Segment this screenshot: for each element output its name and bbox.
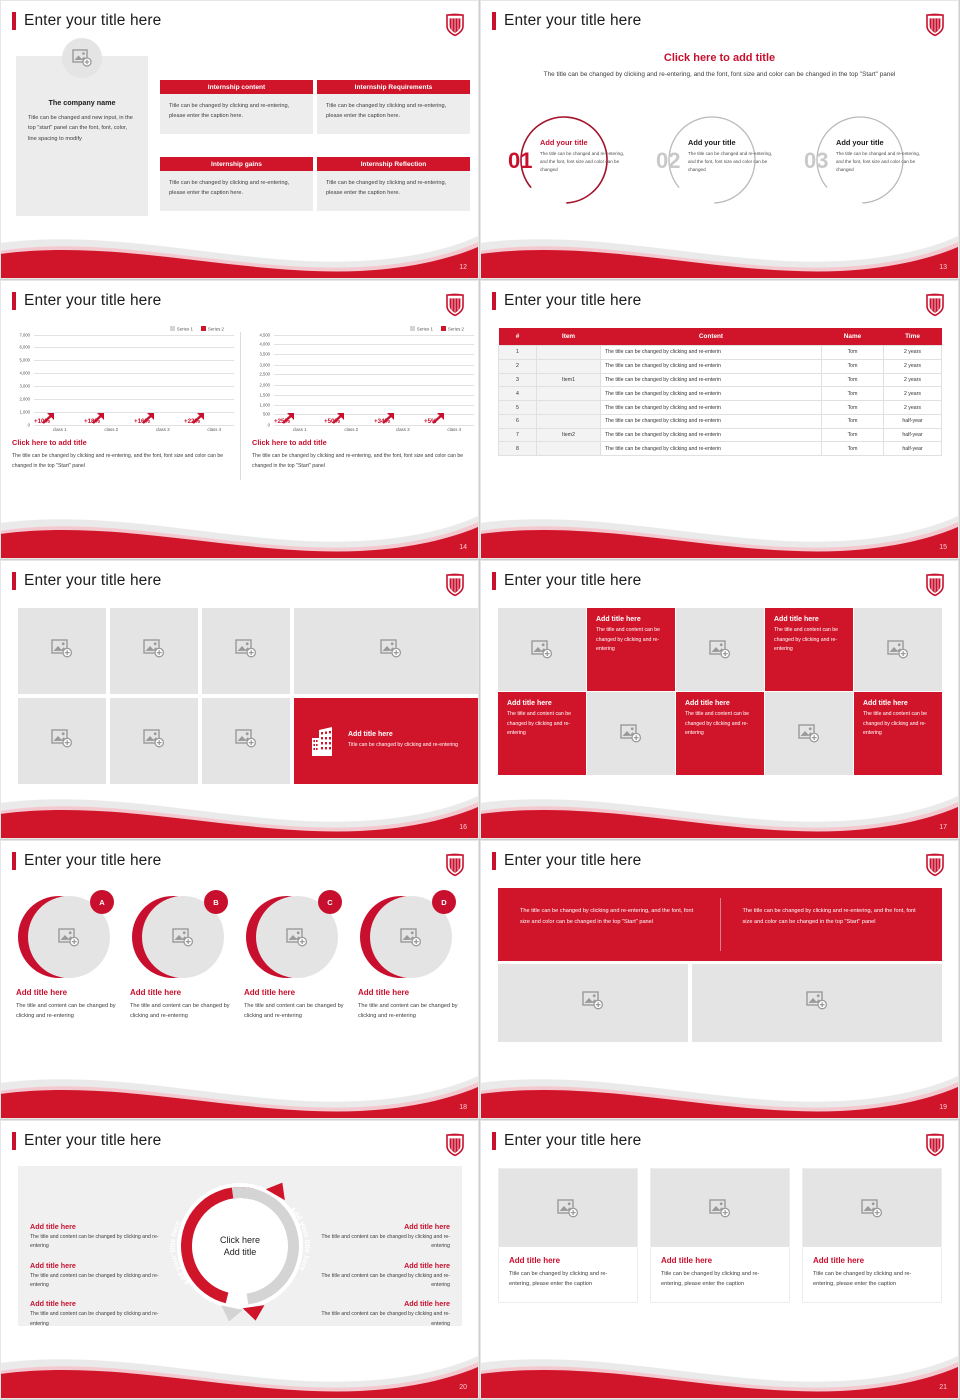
y-tick: 1,000 [260,402,270,407]
title-accent-bar [12,12,16,30]
y-tick: 5,000 [20,358,30,363]
y-axis: 01,0002,0003,0004,0005,0006,0007,000 [8,335,32,425]
table-row[interactable]: 8The title can be changed by clicking an… [499,442,942,456]
add-image-icon [51,639,73,658]
slide-21[interactable]: Enter your title here Add title hereTitl… [480,1120,960,1400]
caption-card[interactable]: Add title hereTitle can be changed by cl… [650,1168,790,1303]
slide-15[interactable]: Enter your title here #ItemContentNameTi… [480,280,960,560]
x-axis: class 1class 2class 3class 4 [34,427,240,432]
x-tick: class 3 [377,427,429,432]
x-tick: class 4 [429,427,481,432]
table-cell-content: The title can be changed by clicking and… [601,373,822,387]
title-accent-bar [492,12,496,30]
tile-title: Add title here [507,700,577,707]
slide-header: Enter your title here [12,852,161,870]
tile-title: Add title here [774,616,844,623]
legend-entry: Series 1 [170,326,193,332]
card-title: Internship gains [160,157,313,171]
table-row[interactable]: 5The title can be changed by clicking an… [499,401,942,415]
legend-entry: Series 1 [410,326,433,332]
table-row[interactable]: 1The title can be changed by clicking an… [499,346,942,360]
numbered-circles-row: 01 Add your title The title can be chang… [498,110,942,210]
shield-logo-icon [445,572,465,596]
add-image-icon [172,928,194,947]
chart-right[interactable]: Series 1Series 205001,0001,5002,0002,500… [246,326,480,486]
item-title: Add title here [130,988,232,997]
image-placeholder-left[interactable] [498,964,688,1042]
legend-entry: Series 2 [441,326,464,332]
footer-wave [0,221,480,279]
circle-item[interactable]: BAdd title hereThe title and content can… [130,890,232,1022]
circle-graphic: A [16,890,118,982]
y-tick: 0 [268,422,270,427]
add-image-icon [861,1199,883,1218]
chart-caption-title: Click here to add title [252,438,480,447]
y-tick: 4,000 [20,371,30,376]
card-title: Internship Reflection [317,157,470,171]
numbered-item-02[interactable]: 02 Add your title The title can be chang… [646,110,794,210]
chart-caption-body: The title can be changed by clicking and… [12,451,227,472]
table-cell-time: half-year [884,428,942,442]
shield-logo-icon [445,12,465,36]
legend-entry: Series 2 [201,326,224,332]
image-placeholder[interactable] [651,1169,789,1247]
add-image-icon [806,991,828,1010]
add-image-placeholder[interactable] [62,38,102,78]
footer-wave [480,221,960,279]
table-cell-content: The title can be changed by clicking and… [601,401,822,415]
growth-arrow-icon [432,411,446,425]
image-placeholder-2[interactable] [110,608,198,694]
center-line-2: Add title [220,1246,260,1258]
add-image-icon [143,729,165,748]
x-tick: class 2 [326,427,378,432]
table-cell-name: Tom [822,359,884,373]
circle-graphic: C [244,890,346,982]
table-cell-name: Tom [822,428,884,442]
page-title: Enter your title here [504,1132,641,1150]
circle-items-row: AAdd title hereThe title and content can… [16,890,460,1022]
table-cell-item [537,359,601,373]
add-image-icon [235,729,257,748]
item-number: 02 [656,148,680,174]
circle-badge: C [318,890,342,914]
item-number: 03 [804,148,828,174]
growth-arrow-icon [192,411,206,425]
building-icon [310,726,336,756]
plot-area: 05001,0001,5002,0002,5003,0003,5004,0004… [248,335,476,425]
item-title: Add your title [540,138,626,147]
slide-16[interactable]: Enter your title here Add title here [0,560,480,840]
company-body: Title can be changed and new input, in t… [28,113,136,144]
y-tick: 2,500 [260,372,270,377]
text-tile[interactable]: Add title hereThe title and content can … [676,692,764,775]
y-axis: 05001,0001,5002,0002,5003,0003,5004,0004… [248,335,272,425]
table-cell-item [537,346,601,360]
company-card[interactable]: The company name Title can be changed an… [16,56,148,216]
chart-legend: Series 1Series 2 [6,326,242,332]
item-body: The title can be changed and re-entering… [688,150,774,174]
chart-caption-title: Click here to add title [12,438,242,447]
add-image-icon [380,639,402,658]
table-cell-time: 2 years [884,346,942,360]
slide-deck: Enter your title here The company name T… [0,0,960,1400]
add-image-icon [557,1199,579,1218]
slide-header: Enter your title here [492,292,641,310]
table-cell-content: The title can be changed by clicking and… [601,428,822,442]
item-body: The title and content can be changed by … [16,1001,118,1022]
footer-wave [480,781,960,839]
table-cell-content: The title can be changed by clicking and… [601,359,822,373]
cycle-center-label[interactable]: Click here Add title [220,1234,260,1258]
tile-title: Add title here [685,700,755,707]
chart-legend: Series 1Series 2 [246,326,480,332]
title-accent-bar [12,1132,16,1150]
footer-wave [480,501,960,559]
image-placeholder[interactable] [499,1169,637,1247]
shield-logo-icon [925,12,945,36]
y-tick: 3,000 [260,362,270,367]
y-tick: 1,000 [20,409,30,414]
tile-body: The title and content can be changed by … [685,710,755,739]
slide-13[interactable]: Enter your title here Click here to add … [480,0,960,280]
title-accent-bar [492,572,496,590]
numbered-item-03[interactable]: 03 Add your title The title can be chang… [794,110,942,210]
title-accent-bar [12,852,16,870]
bar-groups: +10%+18%+16%+22% [34,335,234,425]
y-tick: 4,000 [260,342,270,347]
add-image-icon [887,640,909,659]
circle-badge: A [90,890,114,914]
page-title: Enter your title here [24,1132,161,1150]
item-body: The title and content can be changed by … [244,1001,346,1022]
growth-arrow-icon [142,411,156,425]
table-row[interactable]: 2The title can be changed by clicking an… [499,359,942,373]
card-title: Add title here [509,1256,627,1265]
table-cell-item: Item2 [537,428,601,442]
table-cell-name: Tom [822,373,884,387]
title-accent-bar [492,852,496,870]
slide-14[interactable]: Enter your title here Series 1Series 201… [0,280,480,560]
add-image-icon [709,1199,731,1218]
tile-body: The title and content can be changed by … [774,626,844,655]
table-cell-name: Tom [822,414,884,428]
title-accent-bar [12,292,16,310]
shield-logo-icon [925,292,945,316]
feature-title: Add title here [348,731,478,738]
table-cell-index: 7 [499,428,537,442]
shield-logo-icon [925,1132,945,1156]
add-image-icon [235,639,257,658]
circle-item[interactable]: AAdd title hereThe title and content can… [16,890,118,1022]
card-body: Title can be changed by clicking and re-… [509,1269,627,1290]
banner-text-left: The title can be changed by clicking and… [498,888,720,961]
circle-item[interactable]: DAdd title hereThe title and content can… [358,890,460,1022]
image-placeholder-3[interactable] [202,608,290,694]
page-title: Enter your title here [504,852,641,870]
y-tick: 1,500 [260,392,270,397]
table-cell-content: The title can be changed by clicking and… [601,414,822,428]
slide-header: Enter your title here [492,572,641,590]
red-text-banner[interactable]: The title can be changed by clicking and… [498,888,942,961]
card-body: Title can be changed by clicking and re-… [160,171,313,211]
table-cell-name: Tom [822,387,884,401]
item-title: Add title here [358,988,460,997]
growth-arrow-icon [382,411,396,425]
image-placeholder[interactable] [676,608,764,691]
page-title: Enter your title here [504,12,641,30]
item-title: Add title here [16,988,118,997]
table-cell-index: 4 [499,387,537,401]
image-placeholder-7[interactable] [202,698,290,784]
tile-title: Add title here [863,700,933,707]
x-tick: class 1 [274,427,326,432]
card-body: Title can be changed by clicking and re-… [317,94,470,134]
table-cell-time: 2 years [884,401,942,415]
table-cell-index: 1 [499,346,537,360]
caption-cards-row: Add title hereTitle can be changed by cl… [498,1168,942,1303]
info-card-internship-gains[interactable]: Internship gains Title can be changed by… [160,157,313,211]
shield-logo-icon [445,292,465,316]
data-table[interactable]: #ItemContentNameTime1The title can be ch… [498,328,942,456]
shield-logo-icon [925,852,945,876]
table-cell-time: half-year [884,414,942,428]
caption-card[interactable]: Add title hereTitle can be changed by cl… [498,1168,638,1303]
cycle-diagram[interactable]: Add title hereThe title and content can … [18,1166,462,1326]
circle-graphic: B [130,890,232,982]
item-title: Add your title [836,138,922,147]
y-tick: 3,500 [260,352,270,357]
table-header-cell[interactable]: Content [601,328,822,346]
shield-logo-icon [925,572,945,596]
image-placeholder[interactable] [803,1169,941,1247]
y-tick: 2,000 [20,396,30,401]
image-placeholder[interactable] [498,608,586,691]
x-tick: class 4 [189,427,241,432]
x-axis: class 1class 2class 3class 4 [274,427,480,432]
y-tick: 500 [263,412,270,417]
table-header-cell[interactable]: Name [822,328,884,346]
page-number: 15 [939,544,947,551]
slide-17[interactable]: Enter your title here Add title hereThe … [480,560,960,840]
footer-wave [480,1341,960,1399]
growth-arrow-icon [92,411,106,425]
table-header-cell[interactable]: Time [884,328,942,346]
page-number: 19 [939,1104,947,1111]
tile-body: The title and content can be changed by … [507,710,577,739]
circle-badge: D [432,890,456,914]
item-title: Add title here [244,988,346,997]
bar-groups: +25%+50%+34%+5% [274,335,474,425]
page-number: 12 [459,264,467,271]
slide-header: Enter your title here [12,292,161,310]
image-grid: Add title here Title can be changed by c… [18,608,462,784]
page-number: 13 [939,264,947,271]
item-body: The title and content can be changed by … [358,1001,460,1022]
table-cell-name: Tom [822,346,884,360]
page-title: Enter your title here [24,292,161,310]
tile-body: The title and content can be changed by … [863,710,933,739]
page-number: 17 [939,824,947,831]
table-row[interactable]: 4The title can be changed by clicking an… [499,387,942,401]
slide-header: Enter your title here [12,572,161,590]
item-title: Add your title [688,138,774,147]
y-tick: 0 [28,422,30,427]
feature-body: Title can be changed by clicking and re-… [348,741,478,751]
shield-logo-icon [445,852,465,876]
y-tick: 4,500 [260,332,270,337]
chart-left[interactable]: Series 1Series 201,0002,0003,0004,0005,0… [6,326,242,486]
card-title: Add title here [661,1256,779,1265]
image-placeholder[interactable] [587,692,675,775]
info-card-internship-content[interactable]: Internship content Title can be changed … [160,80,313,134]
table-cell-content: The title can be changed by clicking and… [601,387,822,401]
add-image-icon [58,928,80,947]
x-tick: class 1 [34,427,86,432]
table-header-row: #ItemContentNameTime [499,328,942,346]
section-subtext: The title can be changed by clicking and… [480,70,959,81]
item-body: The title and content can be changed by … [130,1001,232,1022]
table-cell-item [537,387,601,401]
slide-header: Enter your title here [492,1132,641,1150]
footer-wave [0,1061,480,1119]
table-cell-name: Tom [822,442,884,456]
add-image-icon [400,928,422,947]
caption-card[interactable]: Add title hereTitle can be changed by cl… [802,1168,942,1303]
tile-body: The title and content can be changed by … [596,626,666,655]
add-image-icon [620,724,642,743]
page-title: Enter your title here [24,572,161,590]
x-tick: class 2 [86,427,138,432]
footer-wave [0,1341,480,1399]
table-cell-time: 2 years [884,387,942,401]
table-cell-content: The title can be changed by clicking and… [601,346,822,360]
page-title: Enter your title here [24,852,161,870]
add-image-icon [51,729,73,748]
circle-graphic: D [358,890,460,982]
card-body: Title can be changed by clicking and re-… [661,1269,779,1290]
table-cell-item: Item1 [537,373,601,387]
circle-item[interactable]: CAdd title hereThe title and content can… [244,890,346,1022]
table-cell-item [537,442,601,456]
plot-area: 01,0002,0003,0004,0005,0006,0007,000+10%… [8,335,236,425]
add-image-icon [143,639,165,658]
chart-caption-body: The title can be changed by clicking and… [252,451,467,472]
add-image-icon [709,640,731,659]
add-image-icon [798,724,820,743]
slide-header: Enter your title here [12,12,161,30]
text-tile[interactable]: Add title hereThe title and content can … [765,608,853,691]
title-accent-bar [492,292,496,310]
image-placeholder-1[interactable] [18,608,106,694]
image-placeholder-right[interactable] [692,964,942,1042]
image-placeholder[interactable] [765,692,853,775]
slide-12[interactable]: Enter your title here The company name T… [0,0,480,280]
feature-tile[interactable]: Add title here Title can be changed by c… [294,698,480,784]
add-image-icon [286,928,308,947]
table-cell-index: 8 [499,442,537,456]
x-tick: class 3 [137,427,189,432]
page-number: 20 [459,1384,467,1391]
y-tick: 6,000 [20,345,30,350]
section-heading: Click here to add title [480,52,959,64]
table-cell-index: 6 [499,414,537,428]
page-number: 16 [459,824,467,831]
item-number: 01 [508,148,532,174]
page-title: Enter your title here [504,292,641,310]
image-placeholder-6[interactable] [110,698,198,784]
y-tick: 7,000 [20,332,30,337]
table-row[interactable]: 7Item2The title can be changed by clicki… [499,428,942,442]
slide-header: Enter your title here [492,852,641,870]
image-placeholder[interactable] [854,608,942,691]
item-body: The title can be changed and re-entering… [836,150,922,174]
banner-text-right: The title can be changed by clicking and… [721,888,943,961]
card-title: Internship Requirements [317,80,470,94]
table-header-cell[interactable]: Item [537,328,601,346]
card-body: Title can be changed by clicking and re-… [813,1269,931,1290]
table-header-cell[interactable]: # [499,328,537,346]
slide-19[interactable]: Enter your title here The title can be c… [480,840,960,1120]
slide-header: Enter your title here [12,1132,161,1150]
text-tile[interactable]: Add title hereThe title and content can … [587,608,675,691]
table-row[interactable]: 3Item1The title can be changed by clicki… [499,373,942,387]
page-number: 21 [939,1384,947,1391]
page-title: Enter your title here [24,12,161,30]
table-cell-time: 2 years [884,359,942,373]
center-line-1: Click here [220,1234,260,1246]
table-row[interactable]: 6The title can be changed by clicking an… [499,414,942,428]
table-cell-index: 2 [499,359,537,373]
page-title: Enter your title here [504,572,641,590]
tile-title: Add title here [596,616,666,623]
shield-logo-icon [445,1132,465,1156]
y-tick: 3,000 [20,383,30,388]
info-card-internship-reflection[interactable]: Internship Reflection Title can be chang… [317,157,470,211]
table-cell-content: The title can be changed by clicking and… [601,442,822,456]
table-cell-time: 2 years [884,373,942,387]
table-cell-time: half-year [884,442,942,456]
table-cell-item [537,414,601,428]
growth-arrow-icon [282,411,296,425]
slide-header: Enter your title here [492,12,641,30]
company-name: The company name [28,98,136,107]
page-number: 14 [459,544,467,551]
table-cell-index: 3 [499,373,537,387]
numbered-item-01[interactable]: 01 Add your title The title can be chang… [498,110,646,210]
slide-18[interactable]: Enter your title here AAdd title hereThe… [0,840,480,1120]
mosaic-grid: Add title hereThe title and content can … [498,608,942,775]
card-title: Internship content [160,80,313,94]
add-image-icon [531,640,553,659]
circle-badge: B [204,890,228,914]
info-card-internship-requirements[interactable]: Internship Requirements Title can be cha… [317,80,470,134]
image-placeholder-4[interactable] [294,608,480,694]
table-cell-name: Tom [822,401,884,415]
slide-20[interactable]: Enter your title here Add title hereThe … [0,1120,480,1400]
title-accent-bar [492,1132,496,1150]
page-number: 18 [459,1104,467,1111]
text-tile[interactable]: Add title hereThe title and content can … [498,692,586,775]
title-accent-bar [12,572,16,590]
table-cell-item [537,401,601,415]
footer-wave [480,1061,960,1119]
text-tile[interactable]: Add title hereThe title and content can … [854,692,942,775]
image-placeholder-5[interactable] [18,698,106,784]
footer-wave [0,501,480,559]
add-image-icon [582,991,604,1010]
growth-arrow-icon [332,411,346,425]
